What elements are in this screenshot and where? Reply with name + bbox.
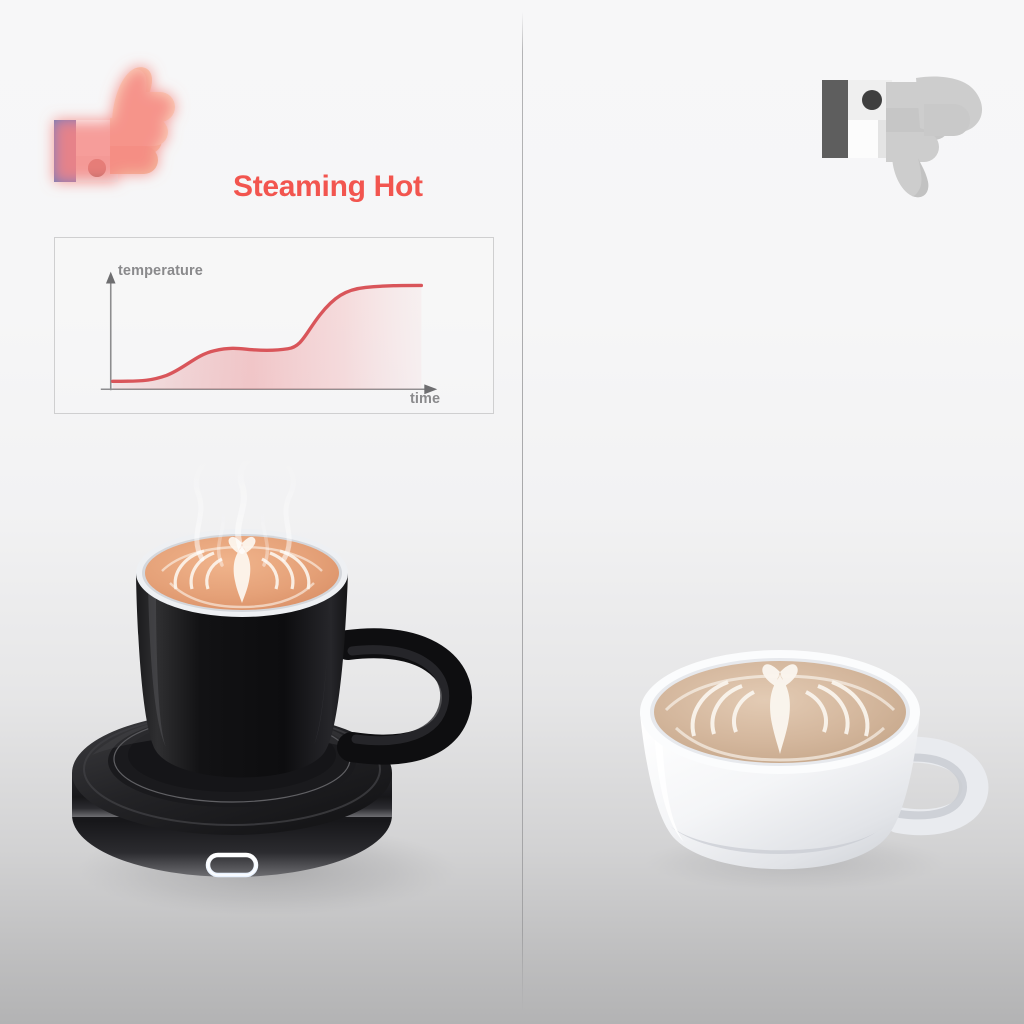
panel-divider [522, 12, 523, 1012]
panel-steaming-hot: Steaming Hot [0, 0, 512, 1024]
chart-left-x-axis-label: time [410, 391, 440, 407]
black-mug-on-warmer [52, 455, 482, 935]
thumbs-down-icon [816, 68, 998, 198]
thumbs-up-icon [46, 62, 226, 187]
chart-left-y-axis-label: temperature [118, 263, 203, 279]
comparison-infographic: Steaming Hot [0, 0, 1024, 1024]
white-cup-no-steam [600, 600, 1000, 900]
heading-steaming-hot: Steaming Hot [233, 170, 423, 204]
